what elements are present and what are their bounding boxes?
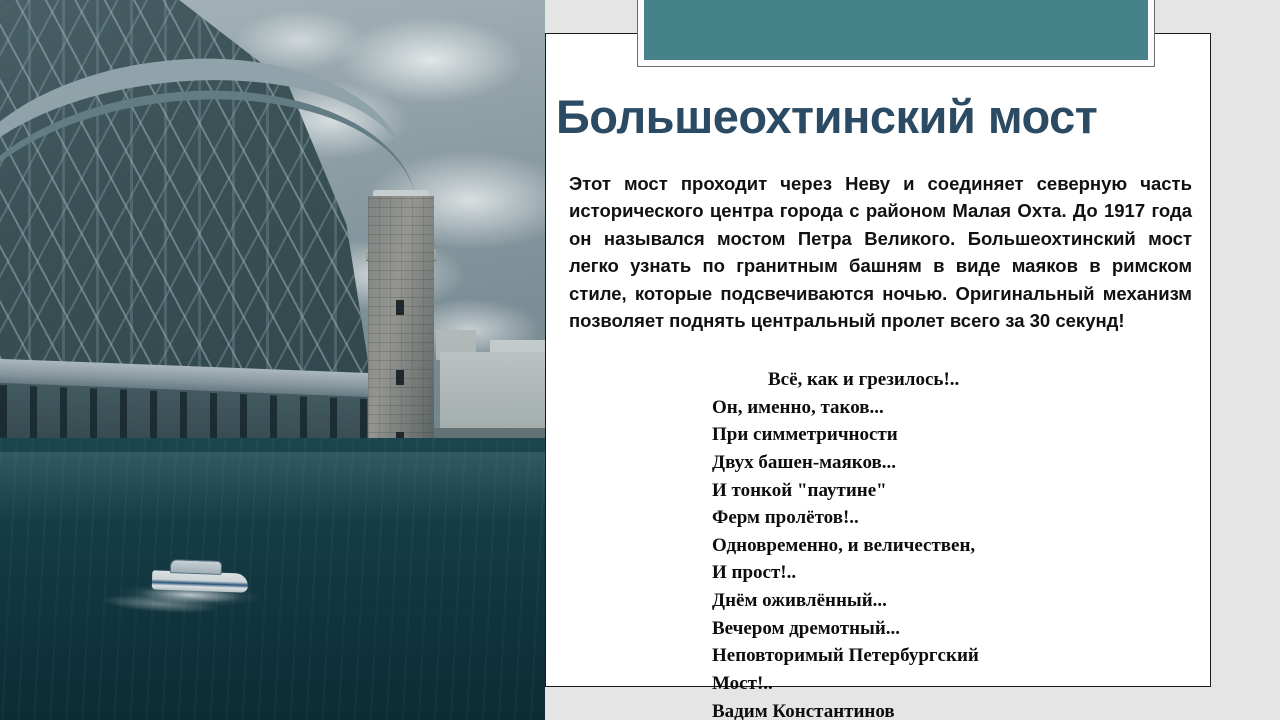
- poem-line: Он, именно, таков...: [712, 394, 1182, 422]
- bridge-photo: [0, 0, 545, 720]
- poem-line: И прост!..: [712, 559, 1182, 587]
- poem-line: Одновременно, и величествен,: [712, 532, 1182, 560]
- body-paragraph: Этот мост проходит через Неву и соединяе…: [569, 170, 1192, 334]
- poem-line: И тонкой "паутине": [712, 477, 1182, 505]
- accent-box-fill: [644, 0, 1148, 60]
- poem-line: Вечером дремотный...: [712, 615, 1182, 643]
- page-title: Большеохтинский мост: [556, 92, 1216, 141]
- poem-line: Двух башен-маяков...: [712, 449, 1182, 477]
- poem-line: Мост!..: [712, 670, 1182, 698]
- tower-window: [396, 370, 404, 385]
- poem-line: Неповторимый Петербургский: [712, 642, 1182, 670]
- poem-line: Днём оживлённый...: [712, 587, 1182, 615]
- poem-line: Вадим Константинов: [712, 698, 1182, 720]
- tower-window: [396, 300, 404, 315]
- accent-box-frame: [637, 0, 1155, 67]
- poem-line: Ферм пролётов!..: [712, 504, 1182, 532]
- poem-line: При симметричности: [712, 421, 1182, 449]
- far-bank-buildings: [440, 352, 545, 434]
- presentation-slide: Большеохтинский мост Этот мост проходит …: [0, 0, 1280, 720]
- motorboat-cabin: [170, 559, 222, 575]
- poem-block: Всё, как и грезилось!..Он, именно, таков…: [712, 366, 1182, 720]
- poem-line: Всё, как и грезилось!..: [712, 366, 1182, 394]
- water-highlight: [0, 452, 545, 522]
